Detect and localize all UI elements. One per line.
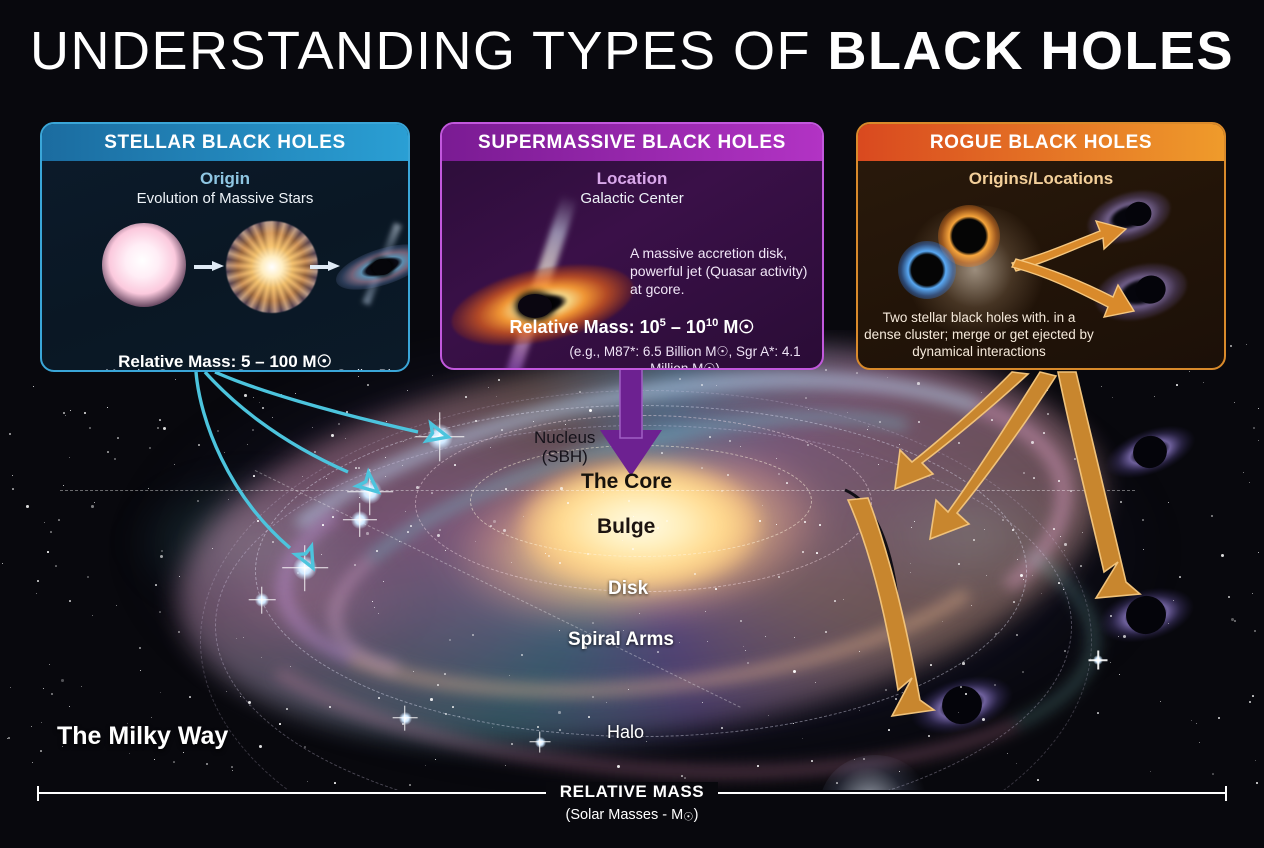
star xyxy=(962,662,965,665)
star xyxy=(1037,779,1039,781)
star xyxy=(762,505,763,506)
star xyxy=(867,429,868,430)
star xyxy=(386,421,387,422)
star xyxy=(913,708,914,709)
star xyxy=(262,407,264,409)
star xyxy=(1022,671,1024,673)
star xyxy=(437,684,439,686)
solar-mass-symbol: ☉ xyxy=(683,810,693,823)
star xyxy=(253,397,254,398)
star xyxy=(212,548,213,549)
panel-stellar-header: STELLAR BLACK HOLES xyxy=(42,124,408,161)
star xyxy=(1203,382,1204,383)
star xyxy=(567,502,569,504)
star xyxy=(12,475,13,476)
star xyxy=(657,651,659,653)
smbh-subtitle: Location xyxy=(442,169,822,189)
star xyxy=(372,601,373,602)
star xyxy=(148,488,149,489)
star xyxy=(1060,536,1061,537)
star xyxy=(684,777,686,779)
stellar-subline: Evolution of Massive Stars xyxy=(42,190,408,207)
star xyxy=(661,452,663,454)
star xyxy=(816,552,818,554)
star xyxy=(416,486,419,489)
star xyxy=(579,391,581,393)
star xyxy=(374,607,375,608)
star xyxy=(161,550,163,552)
star xyxy=(1017,559,1018,560)
supernova-icon xyxy=(226,221,318,313)
star xyxy=(37,580,39,582)
star xyxy=(378,697,380,699)
star xyxy=(1112,397,1113,398)
star xyxy=(1123,635,1126,638)
star xyxy=(1033,477,1035,479)
star xyxy=(740,620,742,622)
star xyxy=(69,600,71,602)
star xyxy=(432,375,433,376)
panel-supermassive-black-holes[interactable]: SUPERMASSIVE BLACK HOLES Location Galact… xyxy=(440,122,824,370)
star xyxy=(918,421,920,423)
label-nucleus-line2: (SBH) xyxy=(534,447,595,466)
star xyxy=(114,458,116,460)
star xyxy=(174,464,175,465)
star xyxy=(65,415,66,416)
star xyxy=(1047,413,1049,415)
star xyxy=(1002,519,1004,521)
scale-label: RELATIVE MASS xyxy=(546,782,718,801)
star xyxy=(89,427,91,429)
label-halo: Halo xyxy=(607,722,644,743)
star xyxy=(69,457,70,458)
star xyxy=(1110,662,1111,663)
star xyxy=(727,474,729,476)
star xyxy=(367,384,369,386)
stellar-subtitle: Origin xyxy=(42,169,408,189)
star xyxy=(1064,650,1066,652)
star xyxy=(545,553,546,554)
page-title-bold: BLACK HOLES xyxy=(828,21,1235,81)
star xyxy=(405,511,406,512)
star xyxy=(117,437,119,439)
panel-stellar-body: Origin Evolution of Massive Stars Massiv… xyxy=(42,169,408,372)
star xyxy=(43,688,44,689)
milky-way-illustration xyxy=(0,330,1264,790)
star xyxy=(1234,620,1236,622)
star xyxy=(8,737,10,739)
star xyxy=(345,438,346,439)
star xyxy=(295,393,296,394)
star xyxy=(906,482,908,484)
stellar-black-hole-icon xyxy=(334,239,410,295)
star xyxy=(1118,636,1119,637)
star xyxy=(346,411,348,413)
panel-rogue-header: ROGUE BLACK HOLES xyxy=(858,124,1224,161)
bright-star-spikes xyxy=(530,732,551,753)
star xyxy=(490,525,492,527)
star xyxy=(1168,502,1169,503)
scale-sublabel-prefix: (Solar Masses - M xyxy=(566,807,684,823)
star xyxy=(358,376,359,377)
star xyxy=(354,564,356,566)
star xyxy=(757,765,759,767)
star xyxy=(793,723,794,724)
star xyxy=(1104,509,1106,511)
star xyxy=(7,738,8,739)
star xyxy=(231,766,233,768)
star xyxy=(1013,601,1015,603)
star xyxy=(157,427,159,429)
massive-star-icon xyxy=(102,223,186,307)
star xyxy=(904,473,907,476)
smbh-mass-suffix: M☉ xyxy=(718,317,754,337)
star xyxy=(51,693,53,695)
star xyxy=(863,758,865,760)
star xyxy=(1252,695,1254,697)
star xyxy=(1258,408,1259,409)
star xyxy=(958,563,960,565)
star xyxy=(44,522,45,523)
star xyxy=(825,631,827,633)
label-bulge: Bulge xyxy=(597,515,655,539)
star xyxy=(383,581,384,582)
star xyxy=(439,529,441,531)
star xyxy=(666,520,668,522)
star xyxy=(847,412,848,413)
star xyxy=(1255,760,1256,761)
star xyxy=(452,706,454,708)
star xyxy=(257,520,259,522)
star xyxy=(1020,574,1023,577)
star xyxy=(1150,771,1151,772)
star xyxy=(1070,490,1072,492)
star xyxy=(183,752,184,753)
star xyxy=(511,562,512,563)
infographic-canvas: UNDERSTANDING TYPES OF BLACK HOLES xyxy=(0,0,1264,848)
star xyxy=(786,482,788,484)
star xyxy=(12,488,14,490)
stellar-evolution-chain: Massive Star (20–30 M☉) Supernova Explos… xyxy=(42,217,408,317)
star xyxy=(991,419,993,421)
star xyxy=(498,379,500,381)
star xyxy=(410,525,412,527)
rogue-bh-galaxy-3 xyxy=(894,658,1030,752)
panel-smbh-body: Location Galactic Center A massive accre… xyxy=(442,169,822,370)
star xyxy=(155,584,157,586)
star xyxy=(681,775,683,777)
label-nucleus: Nucleus (SBH) xyxy=(534,428,595,466)
star xyxy=(1064,550,1065,551)
star xyxy=(679,378,681,380)
star xyxy=(407,390,408,391)
star xyxy=(279,723,281,725)
star xyxy=(472,634,474,636)
smbh-mass-line: Relative Mass: 105 – 1010 M☉ xyxy=(442,317,822,338)
star xyxy=(965,693,967,695)
star xyxy=(968,413,969,414)
star xyxy=(715,588,717,590)
star xyxy=(459,716,460,717)
star xyxy=(1218,717,1220,719)
star xyxy=(958,712,959,713)
star xyxy=(159,611,161,613)
star xyxy=(765,636,766,637)
stellar-mass-line: Relative Mass: 5 – 100 M☉ xyxy=(42,352,408,372)
star xyxy=(1012,529,1014,531)
rogue-bh-galaxy-2 xyxy=(1082,572,1209,658)
star xyxy=(701,384,703,386)
star xyxy=(815,682,816,683)
star xyxy=(895,698,897,700)
star xyxy=(745,650,746,651)
star xyxy=(399,541,400,542)
star xyxy=(559,562,561,564)
star xyxy=(709,436,711,438)
star xyxy=(776,524,777,525)
star xyxy=(329,706,331,708)
star xyxy=(622,416,624,418)
star xyxy=(454,464,456,466)
star xyxy=(995,400,996,401)
label-nucleus-line1: Nucleus xyxy=(534,428,595,447)
star xyxy=(47,551,49,553)
star xyxy=(1058,480,1060,482)
smbh-mass-prefix: Relative Mass: 10 xyxy=(510,317,660,337)
event-horizon xyxy=(518,294,552,318)
panel-rogue-black-holes[interactable]: ROGUE BLACK HOLES Origins/Locations Two … xyxy=(856,122,1226,370)
star xyxy=(1243,472,1244,473)
star xyxy=(721,727,723,729)
star xyxy=(928,735,930,737)
star xyxy=(592,696,594,698)
star xyxy=(407,531,409,533)
star xyxy=(253,475,255,477)
star xyxy=(403,441,404,442)
bright-star-spikes xyxy=(393,706,418,731)
star xyxy=(701,467,703,469)
star xyxy=(729,440,731,442)
star xyxy=(1252,593,1253,594)
star xyxy=(1253,427,1255,429)
star xyxy=(173,761,175,763)
star xyxy=(559,729,561,731)
star xyxy=(619,442,620,443)
star xyxy=(1043,432,1045,434)
smbh-mass-dash: – 10 xyxy=(666,317,706,337)
star xyxy=(834,600,836,602)
star xyxy=(10,687,11,688)
star xyxy=(33,386,34,387)
star xyxy=(1074,458,1076,460)
star xyxy=(807,444,809,446)
star xyxy=(338,423,340,425)
star xyxy=(87,576,89,578)
panel-smbh-header: SUPERMASSIVE BLACK HOLES xyxy=(442,124,822,161)
star xyxy=(261,657,262,658)
star xyxy=(631,432,633,434)
star xyxy=(995,633,997,635)
star xyxy=(632,548,634,550)
star xyxy=(521,654,523,656)
star xyxy=(445,713,447,715)
label-core: The Core xyxy=(581,470,672,494)
star xyxy=(31,726,32,727)
star xyxy=(537,726,539,728)
star xyxy=(154,759,155,760)
bright-star-spikes xyxy=(249,587,276,614)
star xyxy=(1143,549,1144,550)
star xyxy=(986,575,987,576)
star xyxy=(302,476,303,477)
star xyxy=(331,434,334,437)
bright-star-spikes xyxy=(415,412,464,461)
galaxy-overlay-svg xyxy=(0,330,1264,790)
star xyxy=(58,519,60,521)
star xyxy=(259,402,260,403)
star xyxy=(523,516,524,517)
star xyxy=(657,527,659,529)
star xyxy=(587,553,589,555)
star xyxy=(1254,630,1256,632)
relative-mass-scale: RELATIVE MASS (Solar Masses - M☉) xyxy=(37,786,1227,832)
star xyxy=(206,763,208,765)
star xyxy=(240,696,241,697)
star xyxy=(1230,345,1232,347)
star xyxy=(1047,390,1048,391)
star xyxy=(26,505,29,508)
star xyxy=(304,746,306,748)
smbh-mass-exp-high: 10 xyxy=(706,317,718,329)
binary-black-hole-blue-icon xyxy=(898,241,956,299)
star xyxy=(332,516,334,518)
star xyxy=(1058,582,1060,584)
rogue-description: Two stellar black holes with. in a dense… xyxy=(864,309,1094,360)
label-disk: Disk xyxy=(608,578,648,600)
star xyxy=(55,565,57,567)
star xyxy=(1080,565,1082,567)
star xyxy=(1154,396,1155,397)
star xyxy=(189,696,191,698)
star xyxy=(994,684,996,686)
star xyxy=(107,407,108,408)
star xyxy=(312,427,313,428)
chain-arrow-1-icon xyxy=(194,261,224,271)
star xyxy=(286,708,288,710)
star xyxy=(811,760,813,762)
bright-star-spikes xyxy=(1089,651,1108,670)
star xyxy=(1097,712,1099,714)
star xyxy=(930,664,932,666)
star xyxy=(778,576,780,578)
star xyxy=(1082,532,1083,533)
star xyxy=(378,613,379,614)
star xyxy=(901,643,902,644)
star xyxy=(402,465,403,466)
star xyxy=(465,396,467,398)
star xyxy=(1120,501,1122,503)
star xyxy=(1196,723,1197,724)
star xyxy=(511,743,513,745)
star xyxy=(1258,552,1259,553)
star xyxy=(560,487,563,490)
star xyxy=(899,771,900,772)
star xyxy=(888,729,890,731)
star xyxy=(1173,600,1174,601)
star xyxy=(628,500,630,502)
star xyxy=(272,541,274,543)
star xyxy=(493,520,496,523)
label-milky-way: The Milky Way xyxy=(57,722,228,751)
star xyxy=(61,679,64,682)
star xyxy=(559,630,560,631)
star xyxy=(445,550,446,551)
star xyxy=(236,638,237,639)
smbh-description: A massive accretion disk, powerful jet (… xyxy=(630,245,810,299)
star xyxy=(1179,576,1181,578)
star xyxy=(326,478,327,479)
star xyxy=(804,521,806,523)
star xyxy=(198,444,200,446)
star xyxy=(431,492,433,494)
star xyxy=(759,520,761,522)
star xyxy=(721,490,723,492)
star xyxy=(819,524,821,526)
star xyxy=(224,452,225,453)
star xyxy=(322,524,324,526)
star xyxy=(314,451,316,453)
scale-sublabel: (Solar Masses - M☉) xyxy=(37,807,1227,823)
star xyxy=(160,555,163,558)
star xyxy=(859,651,860,652)
panel-stellar-black-holes[interactable]: STELLAR BLACK HOLES Origin Evolution of … xyxy=(40,122,410,372)
star xyxy=(778,473,780,475)
star xyxy=(825,369,827,371)
star xyxy=(1063,589,1064,590)
star xyxy=(802,551,804,553)
star xyxy=(376,550,378,552)
star xyxy=(1160,701,1161,702)
star xyxy=(843,599,844,600)
star xyxy=(501,429,503,431)
star xyxy=(885,689,887,691)
star xyxy=(592,622,594,624)
star xyxy=(879,421,881,423)
rogue-subtitle: Origins/Locations xyxy=(858,169,1224,189)
star xyxy=(107,451,109,453)
bright-star-spikes xyxy=(343,503,377,537)
star xyxy=(856,372,858,374)
star xyxy=(505,488,507,490)
bright-star-spikes xyxy=(282,545,328,591)
star xyxy=(430,698,433,701)
rogue-bh-galaxy-1 xyxy=(1088,408,1211,495)
star xyxy=(1016,634,1018,636)
star xyxy=(973,539,975,541)
star xyxy=(437,534,440,537)
star xyxy=(290,666,291,667)
star xyxy=(159,419,161,421)
star xyxy=(588,716,590,718)
star xyxy=(50,531,52,533)
star xyxy=(1142,519,1144,521)
star xyxy=(805,397,807,399)
star xyxy=(444,673,446,675)
star xyxy=(244,394,247,397)
star xyxy=(1097,465,1098,466)
page-title: UNDERSTANDING TYPES OF BLACK HOLES xyxy=(0,24,1264,78)
star xyxy=(1053,528,1055,530)
